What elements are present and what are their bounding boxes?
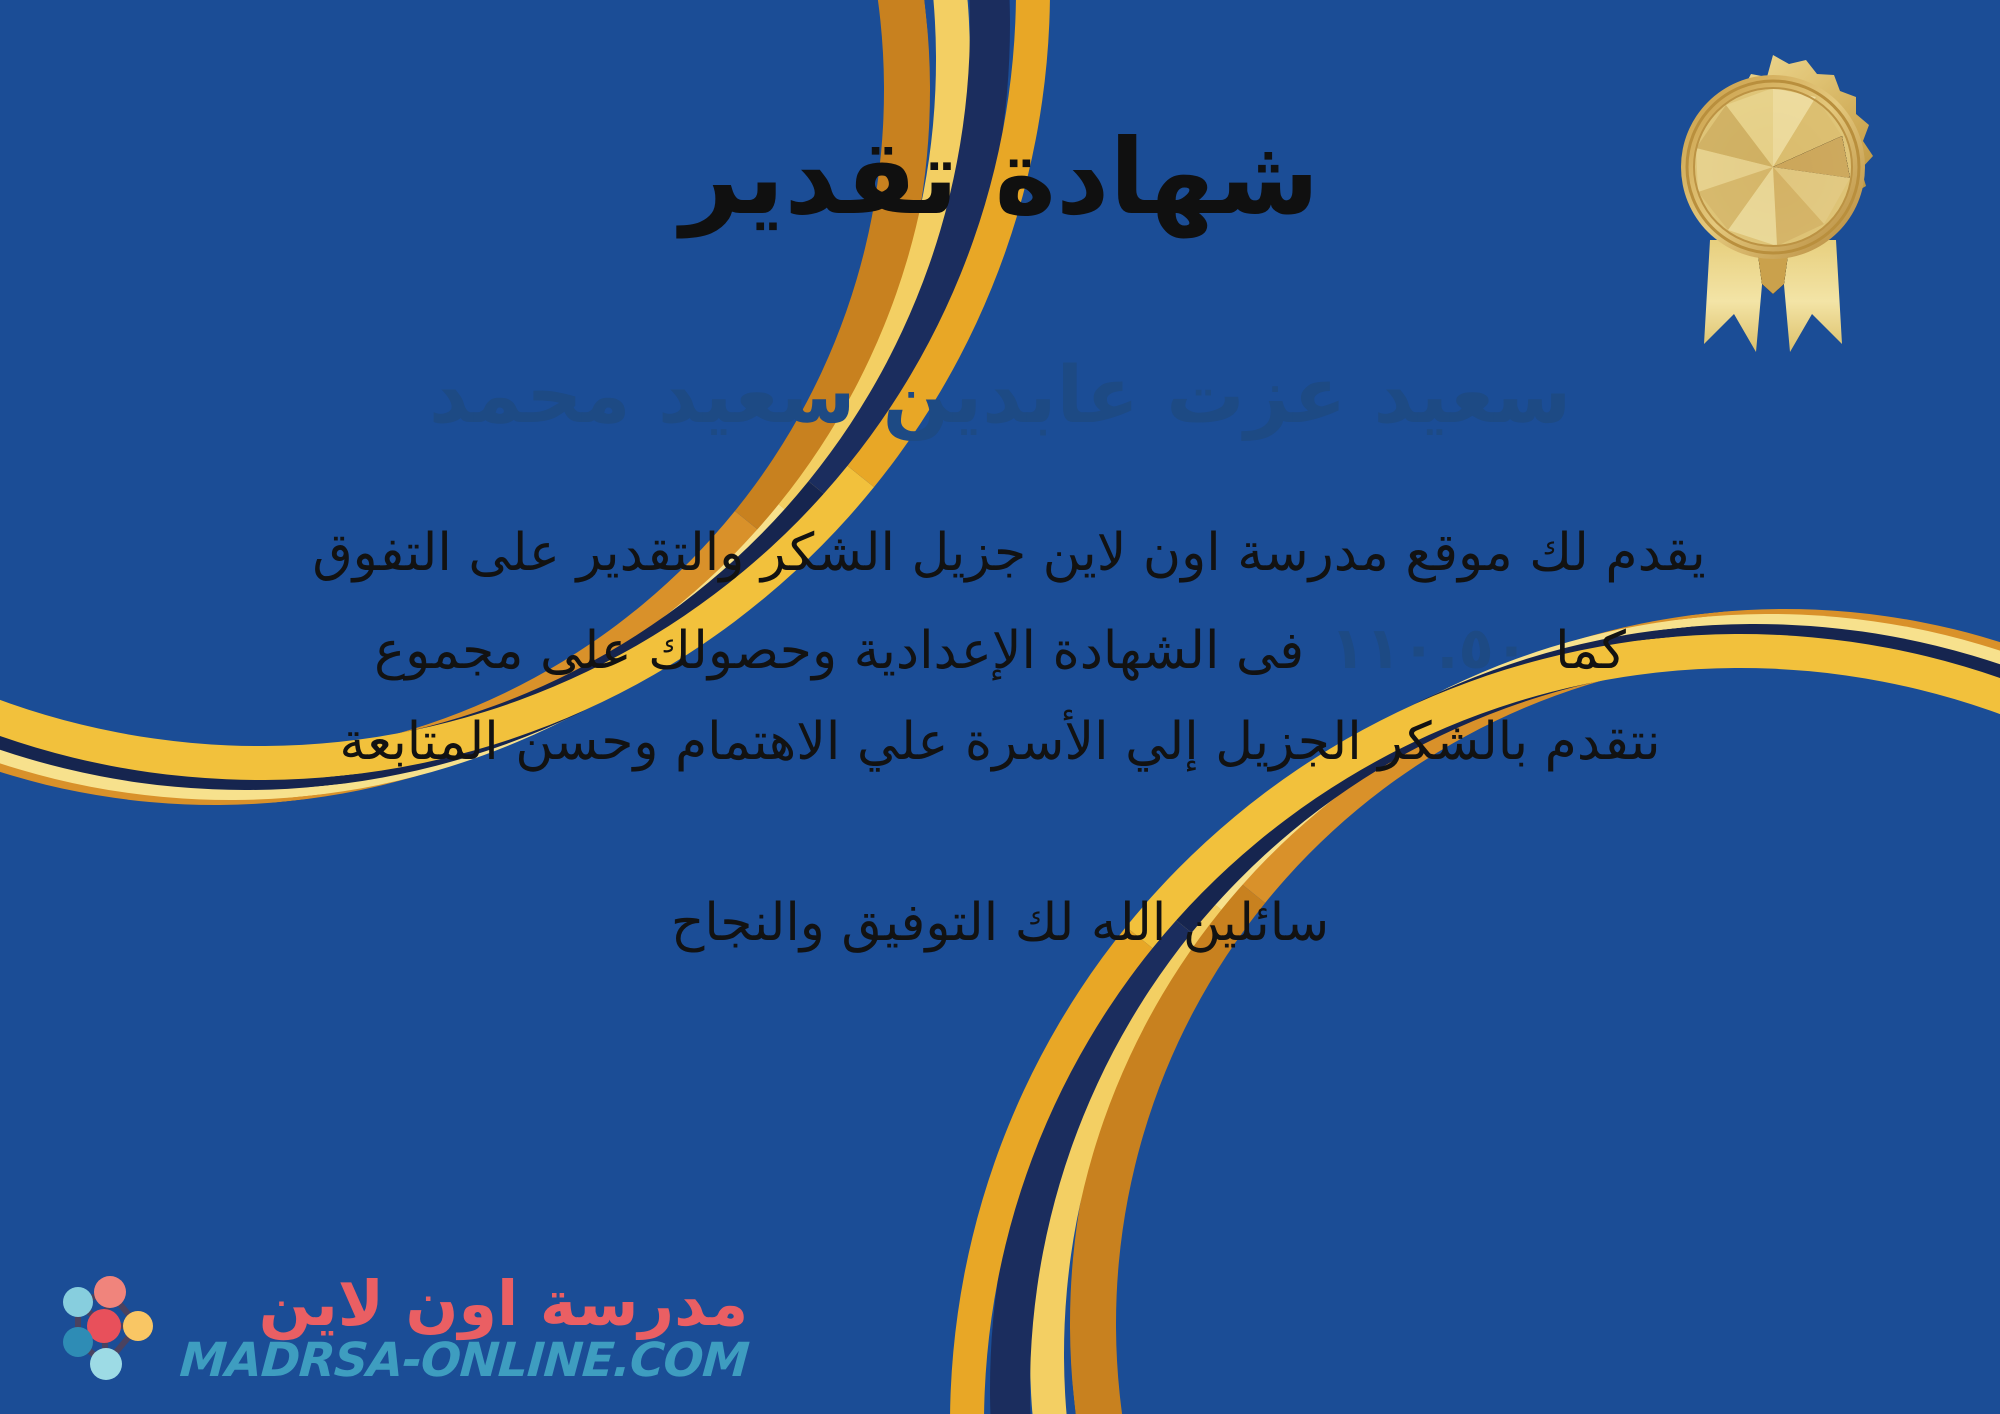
- certificate-body: يقدم لك موقع مدرسة اون لاين جزيل الشكر و…: [120, 509, 1880, 788]
- network-nodes-icon: [38, 1264, 166, 1392]
- recipient-name: سعيد عزت عابدين سعيد محمد: [429, 350, 1571, 444]
- body-line-1: يقدم لك موقع مدرسة اون لاين جزيل الشكر و…: [120, 509, 1880, 598]
- certificate-content: شهادة تقدير سعيد عزت عابدين سعيد محمد يق…: [0, 0, 2000, 1414]
- body-line-3: نتقدم بالشكر الجزيل إلي الأسرة علي الاهت…: [120, 698, 1880, 787]
- body-line-2-prefix: فى الشهادة الإعدادية وحصولك على مجموع: [374, 621, 1304, 681]
- body-line-2-suffix: كما: [1555, 621, 1626, 681]
- brand-website-url[interactable]: MADRSA-ONLINE.COM: [178, 1336, 750, 1385]
- certificate-page: شهادة تقدير سعيد عزت عابدين سعيد محمد يق…: [0, 0, 2000, 1414]
- page-title: شهادة تقدير: [681, 118, 1320, 238]
- brand-text-block: مدرسة اون لاين MADRSA-ONLINE.COM: [180, 1271, 748, 1385]
- body-line-2: كما١١٠.٥٠فى الشهادة الإعدادية وحصولك على…: [120, 599, 1880, 699]
- total-score-value: ١١٠.٥٠: [1304, 614, 1555, 682]
- closing-wish: سائلين الله لك التوفيق والنجاح: [671, 884, 1329, 962]
- brand-logo[interactable]: مدرسة اون لاين MADRSA-ONLINE.COM: [38, 1264, 748, 1392]
- brand-name-arabic: مدرسة اون لاين: [259, 1271, 749, 1336]
